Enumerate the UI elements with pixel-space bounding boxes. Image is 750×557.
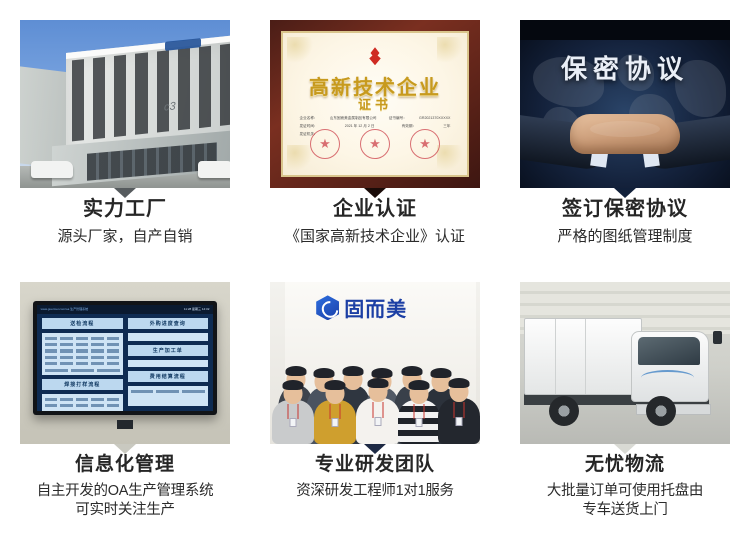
person-head [450,381,469,402]
oa-panel-empty [128,333,209,341]
photo-wrap-logistics [520,282,730,444]
parked-van-right [198,161,230,178]
side-mirror [713,331,722,344]
caption-enterprise-certification: 企业认证 《国家高新技术企业》认证 [255,196,495,247]
oa-dashboard: 送检流程 焊接打样流程 [42,318,208,405]
guermei-hexagon-logo-icon [316,295,339,320]
feature-title: 专业研发团队 [255,452,495,478]
photo-wrap-enterprise-certification: 高新技术企业 证书 企业名称： 山东固而美金属制品有限公司 证书编号： GR20… [270,20,480,188]
feature-subtitle: 资深研发工程师1对1服务 [255,482,495,502]
lanyard [288,404,299,419]
building-unit-label: c3 [164,100,176,113]
feature-title: 无忧物流 [505,452,745,478]
photo-wrap-rnd-team: 固而美 [270,282,480,444]
feature-title: 签订保密协议 [505,196,745,223]
team-member-front [314,400,356,444]
caption-rnd-team: 专业研发团队 资深研发工程师1对1服务 [255,452,495,501]
oa-system-tv-photo: www.guermei.com/oa 生产管理系统 11:28 星期三 14:3… [20,282,230,444]
team-member-front [272,400,314,444]
caption-nda-signing: 签订保密协议 严格的图纸管理制度 [505,196,745,247]
id-badge [375,417,382,426]
oa-panel-heading: 送检流程 [42,318,123,329]
oa-column-right: 外购进度查询 生产加工单 费用结算流程 [128,318,209,405]
nda-overlay-text: 保密协议 [520,49,730,86]
oa-panel-heading: 费用结算流程 [128,371,209,382]
lanyard [373,402,384,418]
id-badge [456,417,463,426]
certificate-seals [283,129,467,159]
feature-title: 企业认证 [255,196,495,223]
caption-logistics: 无忧物流 大批量订单可使用托盘由 专车送货上门 [505,452,745,521]
id-badge [416,418,423,427]
feature-cell-rnd-team: 固而美 [250,278,500,557]
oa-panel-table [42,333,123,375]
flame-emblem-icon [367,47,383,65]
certificate-frame: 高新技术企业 证书 企业名称： 山东固而美金属制品有限公司 证书编号： GR20… [270,20,480,188]
team-member-front [398,400,440,444]
feature-subtitle: 源头厂家，自产自销 [5,227,245,247]
caption-pointer-icon [114,444,136,454]
tv-screen: www.guermei.com/oa 生产管理系统 11:28 星期三 14:3… [37,305,214,410]
company-brand-lockup: 固而美 [316,293,407,322]
oa-panel-table [128,386,209,405]
person-head [369,381,388,402]
feature-cell-informatization-management: www.guermei.com/oa 生产管理系统 11:28 星期三 14:3… [0,278,250,557]
team-member-front [438,398,480,444]
parked-van [31,161,73,178]
team-members [270,344,480,444]
person-head [326,383,345,404]
oa-clock-label: 11:28 星期三 14:32 [184,307,209,311]
oa-panel-empty [128,360,209,368]
official-seal-icon [360,129,390,159]
caption-pointer-icon [614,188,636,198]
feature-subtitle-line1: 自主开发的OA生产管理系统 [5,482,245,502]
wall-mounted-tv: www.guermei.com/oa 生产管理系统 11:28 星期三 14:3… [33,301,218,414]
caption-informatization-management: 信息化管理 自主开发的OA生产管理系统 可实时关注生产 [5,452,245,521]
oa-panel-heading: 焊接打样流程 [42,379,123,390]
feature-cell-enterprise-certification: 高新技术企业 证书 企业名称： 山东固而美金属制品有限公司 证书编号： GR20… [250,0,500,278]
corner-ornament-icon [287,37,313,63]
truck-cab [631,331,709,402]
tv-wall-bracket [117,420,134,430]
person-head [284,383,303,404]
certificate-field-label: 企业名称： [300,114,318,122]
rnd-team-group-photo: 固而美 [270,282,480,444]
lanyard [454,402,465,418]
certificate-field-value: 山东固而美金属制品有限公司 [330,114,377,122]
certificate-subheading: 证书 [283,94,467,113]
certificate-face: 高新技术企业 证书 企业名称： 山东固而美金属制品有限公司 证书编号： GR20… [281,31,469,177]
person-head [410,383,429,404]
lanyard [414,404,425,419]
certificate-field-value: GR2021370XXXXX [419,114,450,122]
feature-subtitle: 《国家高新技术企业》认证 [255,227,495,247]
caption-strength-factory: 实力工厂 源头厂家，自产自销 [5,196,245,247]
person-head [343,369,362,390]
official-seal-icon [410,129,440,159]
corner-ornament-icon [437,37,463,63]
photo-wrap-nda-signing: 保密协议 [520,20,730,188]
certificate-field-label: 证书编号： [389,114,407,122]
oa-panel-table [42,394,123,411]
oa-column-left: 送检流程 焊接打样流程 [42,318,123,405]
caption-pointer-icon [114,188,136,198]
feature-cell-logistics: 无忧物流 大批量订单可使用托盘由 专车送货上门 [500,278,750,557]
team-member-front [356,398,400,444]
photo-wrap-informatization-management: www.guermei.com/oa 生产管理系统 11:28 星期三 14:3… [20,282,230,444]
photo-wrap-strength-factory: c3 [20,20,230,188]
front-wheel [646,396,676,426]
feature-cell-strength-factory: c3 实力工厂 源头厂家，自产自销 [0,0,250,278]
id-badge [332,418,339,427]
door-decal [641,370,694,385]
feature-subtitle-line2: 可实时关注生产 [5,501,245,521]
high-tech-enterprise-certificate-photo: 高新技术企业 证书 企业名称： 山东固而美金属制品有限公司 证书编号： GR20… [270,20,480,188]
delivery-truck-photo [520,282,730,444]
handshake-nda-photo: 保密协议 [520,20,730,188]
feature-grid: c3 实力工厂 源头厂家，自产自销 高新技术 [0,0,750,557]
lanyard [330,404,341,419]
official-seal-icon [310,129,340,159]
feature-subtitle-line2: 专车送货上门 [505,501,745,521]
oa-url-label: www.guermei.com/oa 生产管理系统 [41,307,89,311]
truck-cargo-box [524,318,642,396]
id-badge [290,418,297,427]
caption-pointer-icon [364,444,386,454]
feature-title: 实力工厂 [5,196,245,223]
photo-letterbox-top [520,20,730,40]
factory-building-photo: c3 [20,20,230,188]
feature-subtitle-line1: 大批量订单可使用托盘由 [505,482,745,502]
knuckle-highlight [590,121,660,137]
feature-subtitle: 严格的图纸管理制度 [505,227,745,247]
cab-window [638,337,700,365]
handshake-hands [570,114,679,154]
brand-name-label: 固而美 [344,293,407,322]
browser-title-bar: www.guermei.com/oa 生产管理系统 11:28 星期三 14:3… [37,305,214,314]
feature-cell-nda-signing: 保密协议 签订保密协议 严格的图纸管理制度 [500,0,750,278]
oa-panel-heading: 生产加工单 [128,345,209,356]
caption-pointer-icon [364,188,386,198]
caption-pointer-icon [614,444,636,454]
feature-title: 信息化管理 [5,452,245,478]
oa-panel-heading: 外购进度查询 [128,318,209,329]
